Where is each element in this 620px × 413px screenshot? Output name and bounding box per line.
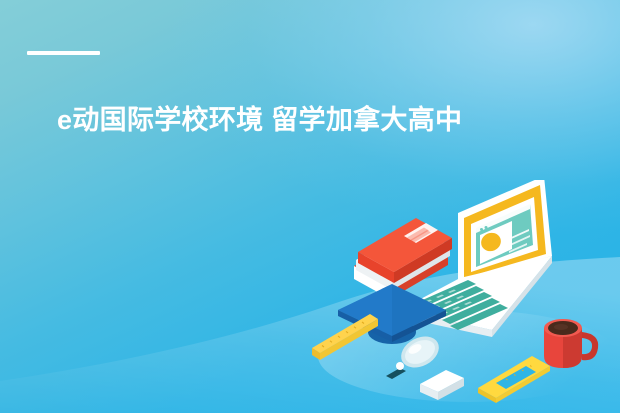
page-title: e动国际学校环境 留学加拿大高中 [57, 100, 577, 140]
book-stack-icon [354, 218, 452, 299]
study-desk-illustration [300, 180, 620, 413]
banner: e动国际学校环境 留学加拿大高中 [0, 0, 620, 413]
accent-rule [27, 51, 100, 55]
